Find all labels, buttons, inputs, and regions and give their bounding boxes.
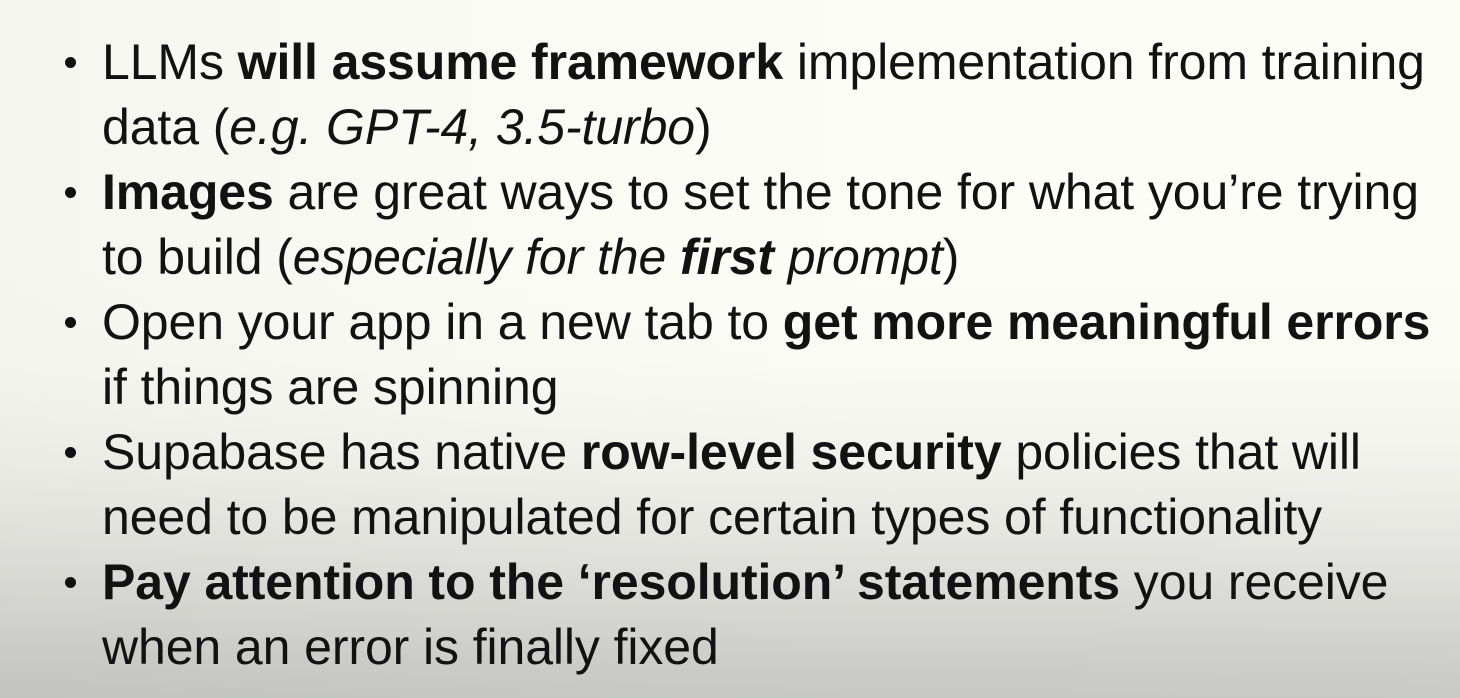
bullet-text: Images are great ways to set the tone fo… bbox=[102, 164, 1419, 285]
list-item: Supabase has native row-level security p… bbox=[56, 420, 1442, 550]
bullet-point-icon bbox=[65, 447, 76, 458]
list-item: Pay attention to the ‘resolution’ statem… bbox=[56, 550, 1442, 680]
bullet-point-icon bbox=[65, 577, 76, 588]
list-item: LLMs will assume framework implementatio… bbox=[56, 30, 1442, 160]
list-item: Images are great ways to set the tone fo… bbox=[56, 160, 1442, 290]
bullet-point-icon bbox=[65, 57, 76, 68]
bullet-text: LLMs will assume framework implementatio… bbox=[102, 34, 1425, 155]
slide-canvas: LLMs will assume framework implementatio… bbox=[0, 0, 1460, 698]
bullet-list: LLMs will assume framework implementatio… bbox=[56, 30, 1442, 680]
bullet-text: Supabase has native row-level security p… bbox=[102, 424, 1361, 545]
bullet-text: Open your app in a new tab to get more m… bbox=[102, 294, 1430, 415]
bullet-text: Pay attention to the ‘resolution’ statem… bbox=[102, 554, 1388, 675]
bullet-point-icon bbox=[65, 187, 76, 198]
bullet-point-icon bbox=[65, 317, 76, 328]
list-item: Open your app in a new tab to get more m… bbox=[56, 290, 1442, 420]
